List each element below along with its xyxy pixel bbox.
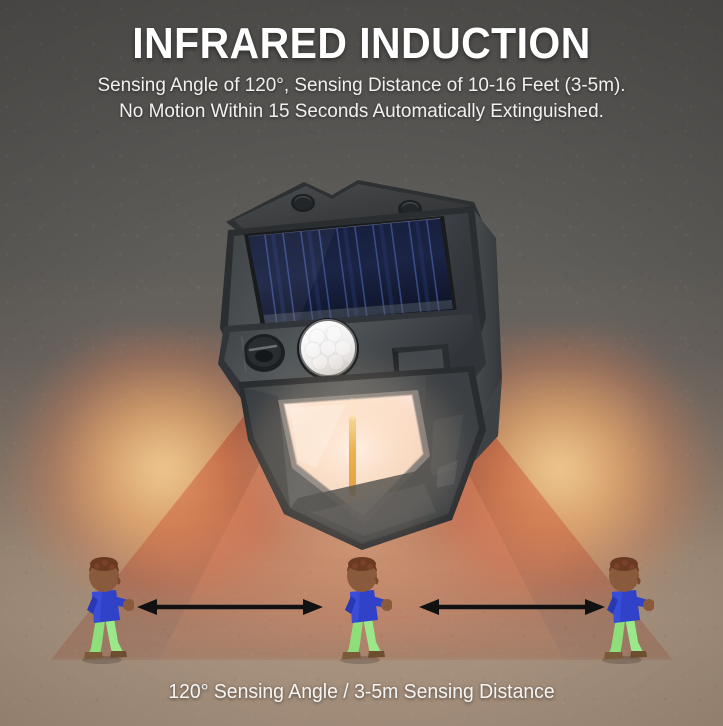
subtitle-line-2: No Motion Within 15 Seconds Automaticall…	[11, 98, 712, 124]
distance-arrow-left	[137, 596, 323, 618]
product-feature-image: INFRARED INDUCTION Sensing Angle of 120°…	[0, 0, 723, 726]
person-left	[72, 556, 134, 664]
header-block: INFRARED INDUCTION Sensing Angle of 120°…	[0, 0, 723, 125]
distance-arrow-right	[419, 596, 605, 618]
subtitle-block: Sensing Angle of 120°, Sensing Distance …	[11, 72, 712, 125]
person-center	[330, 556, 392, 664]
subtitle-line-1: Sensing Angle of 120°, Sensing Distance …	[11, 72, 712, 98]
page-title: INFRARED INDUCTION	[25, 22, 697, 66]
solar-wall-light-fixture	[186, 168, 516, 558]
bottom-caption: 120° Sensing Angle / 3-5m Sensing Distan…	[11, 681, 712, 704]
